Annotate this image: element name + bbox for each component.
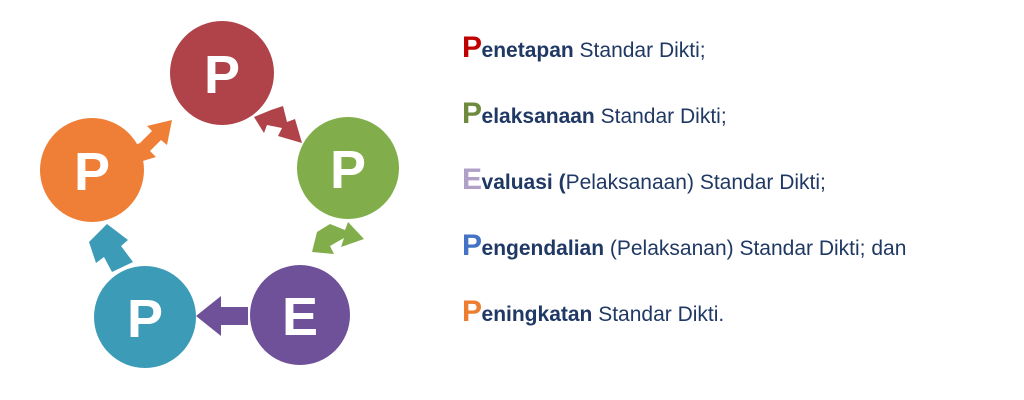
cycle-node-penetapan-letter: P — [204, 45, 240, 105]
cycle-node-pelaksanaan[interactable]: P — [297, 117, 399, 219]
cycle-node-penetapan[interactable]: P — [170, 21, 274, 125]
step-bold-pelaksanaan: elaksanaan — [482, 105, 595, 128]
step-initial-pengendalian: P — [462, 229, 482, 262]
step-initial-pelaksanaan: P — [462, 97, 482, 130]
cycle-diagram-canvas: P P E P P — [0, 0, 440, 400]
step-item-evaluasi: Evaluasi (Pelaksanaan) Standar Dikti; — [462, 150, 1014, 216]
page-root: P P E P P — [0, 0, 1024, 400]
cycle-node-pelaksanaan-letter: P — [330, 140, 366, 200]
step-item-pelaksanaan: Pelaksanaan Standar Dikti; — [462, 84, 1014, 150]
step-bold-pengendalian: engendalian — [482, 237, 605, 260]
step-bold-penetapan: enetapan — [482, 39, 574, 62]
arrow-evaluasi-to-pengendalian-icon — [196, 296, 248, 336]
step-item-peningkatan: Peningkatan Standar Dikti. — [462, 282, 1014, 348]
step-item-pengendalian: Pengendalian (Pelaksanan) Standar Dikti;… — [462, 216, 1014, 282]
spmi-steps-list: Penetapan Standar Dikti; Pelaksanaan Sta… — [462, 18, 1014, 382]
step-rest-pelaksanaan: Standar Dikti; — [595, 105, 727, 128]
step-rest-peningkatan: Standar Dikti. — [592, 303, 724, 326]
cycle-node-pengendalian-letter: P — [127, 289, 163, 349]
arrow-pelaksanaan-to-evaluasi-icon — [312, 222, 364, 254]
arrow-pengendalian-to-peningkatan-icon — [89, 224, 133, 272]
step-initial-penetapan: P — [462, 31, 482, 64]
cycle-node-peningkatan[interactable]: P — [40, 118, 144, 222]
step-rest-evaluasi: Pelaksanaan) Standar Dikti; — [566, 171, 826, 194]
step-rest-pengendalian: (Pelaksanan) Standar Dikti; dan — [604, 237, 906, 260]
step-initial-evaluasi: E — [462, 163, 482, 196]
cycle-node-pengendalian[interactable]: P — [94, 266, 196, 368]
arrow-penetapan-to-pelaksanaan-icon — [254, 106, 302, 143]
step-bold-peningkatan: eningkatan — [482, 303, 593, 326]
step-initial-peningkatan: P — [462, 295, 482, 328]
step-item-penetapan: Penetapan Standar Dikti; — [462, 18, 1014, 84]
cycle-node-peningkatan-letter: P — [74, 142, 110, 202]
spmi-cycle-diagram: P P E P P — [0, 0, 440, 400]
step-bold-evaluasi: valuasi ( — [482, 171, 566, 194]
step-rest-penetapan: Standar Dikti; — [574, 39, 706, 62]
cycle-node-evaluasi[interactable]: E — [250, 265, 350, 365]
cycle-node-evaluasi-letter: E — [282, 287, 318, 347]
